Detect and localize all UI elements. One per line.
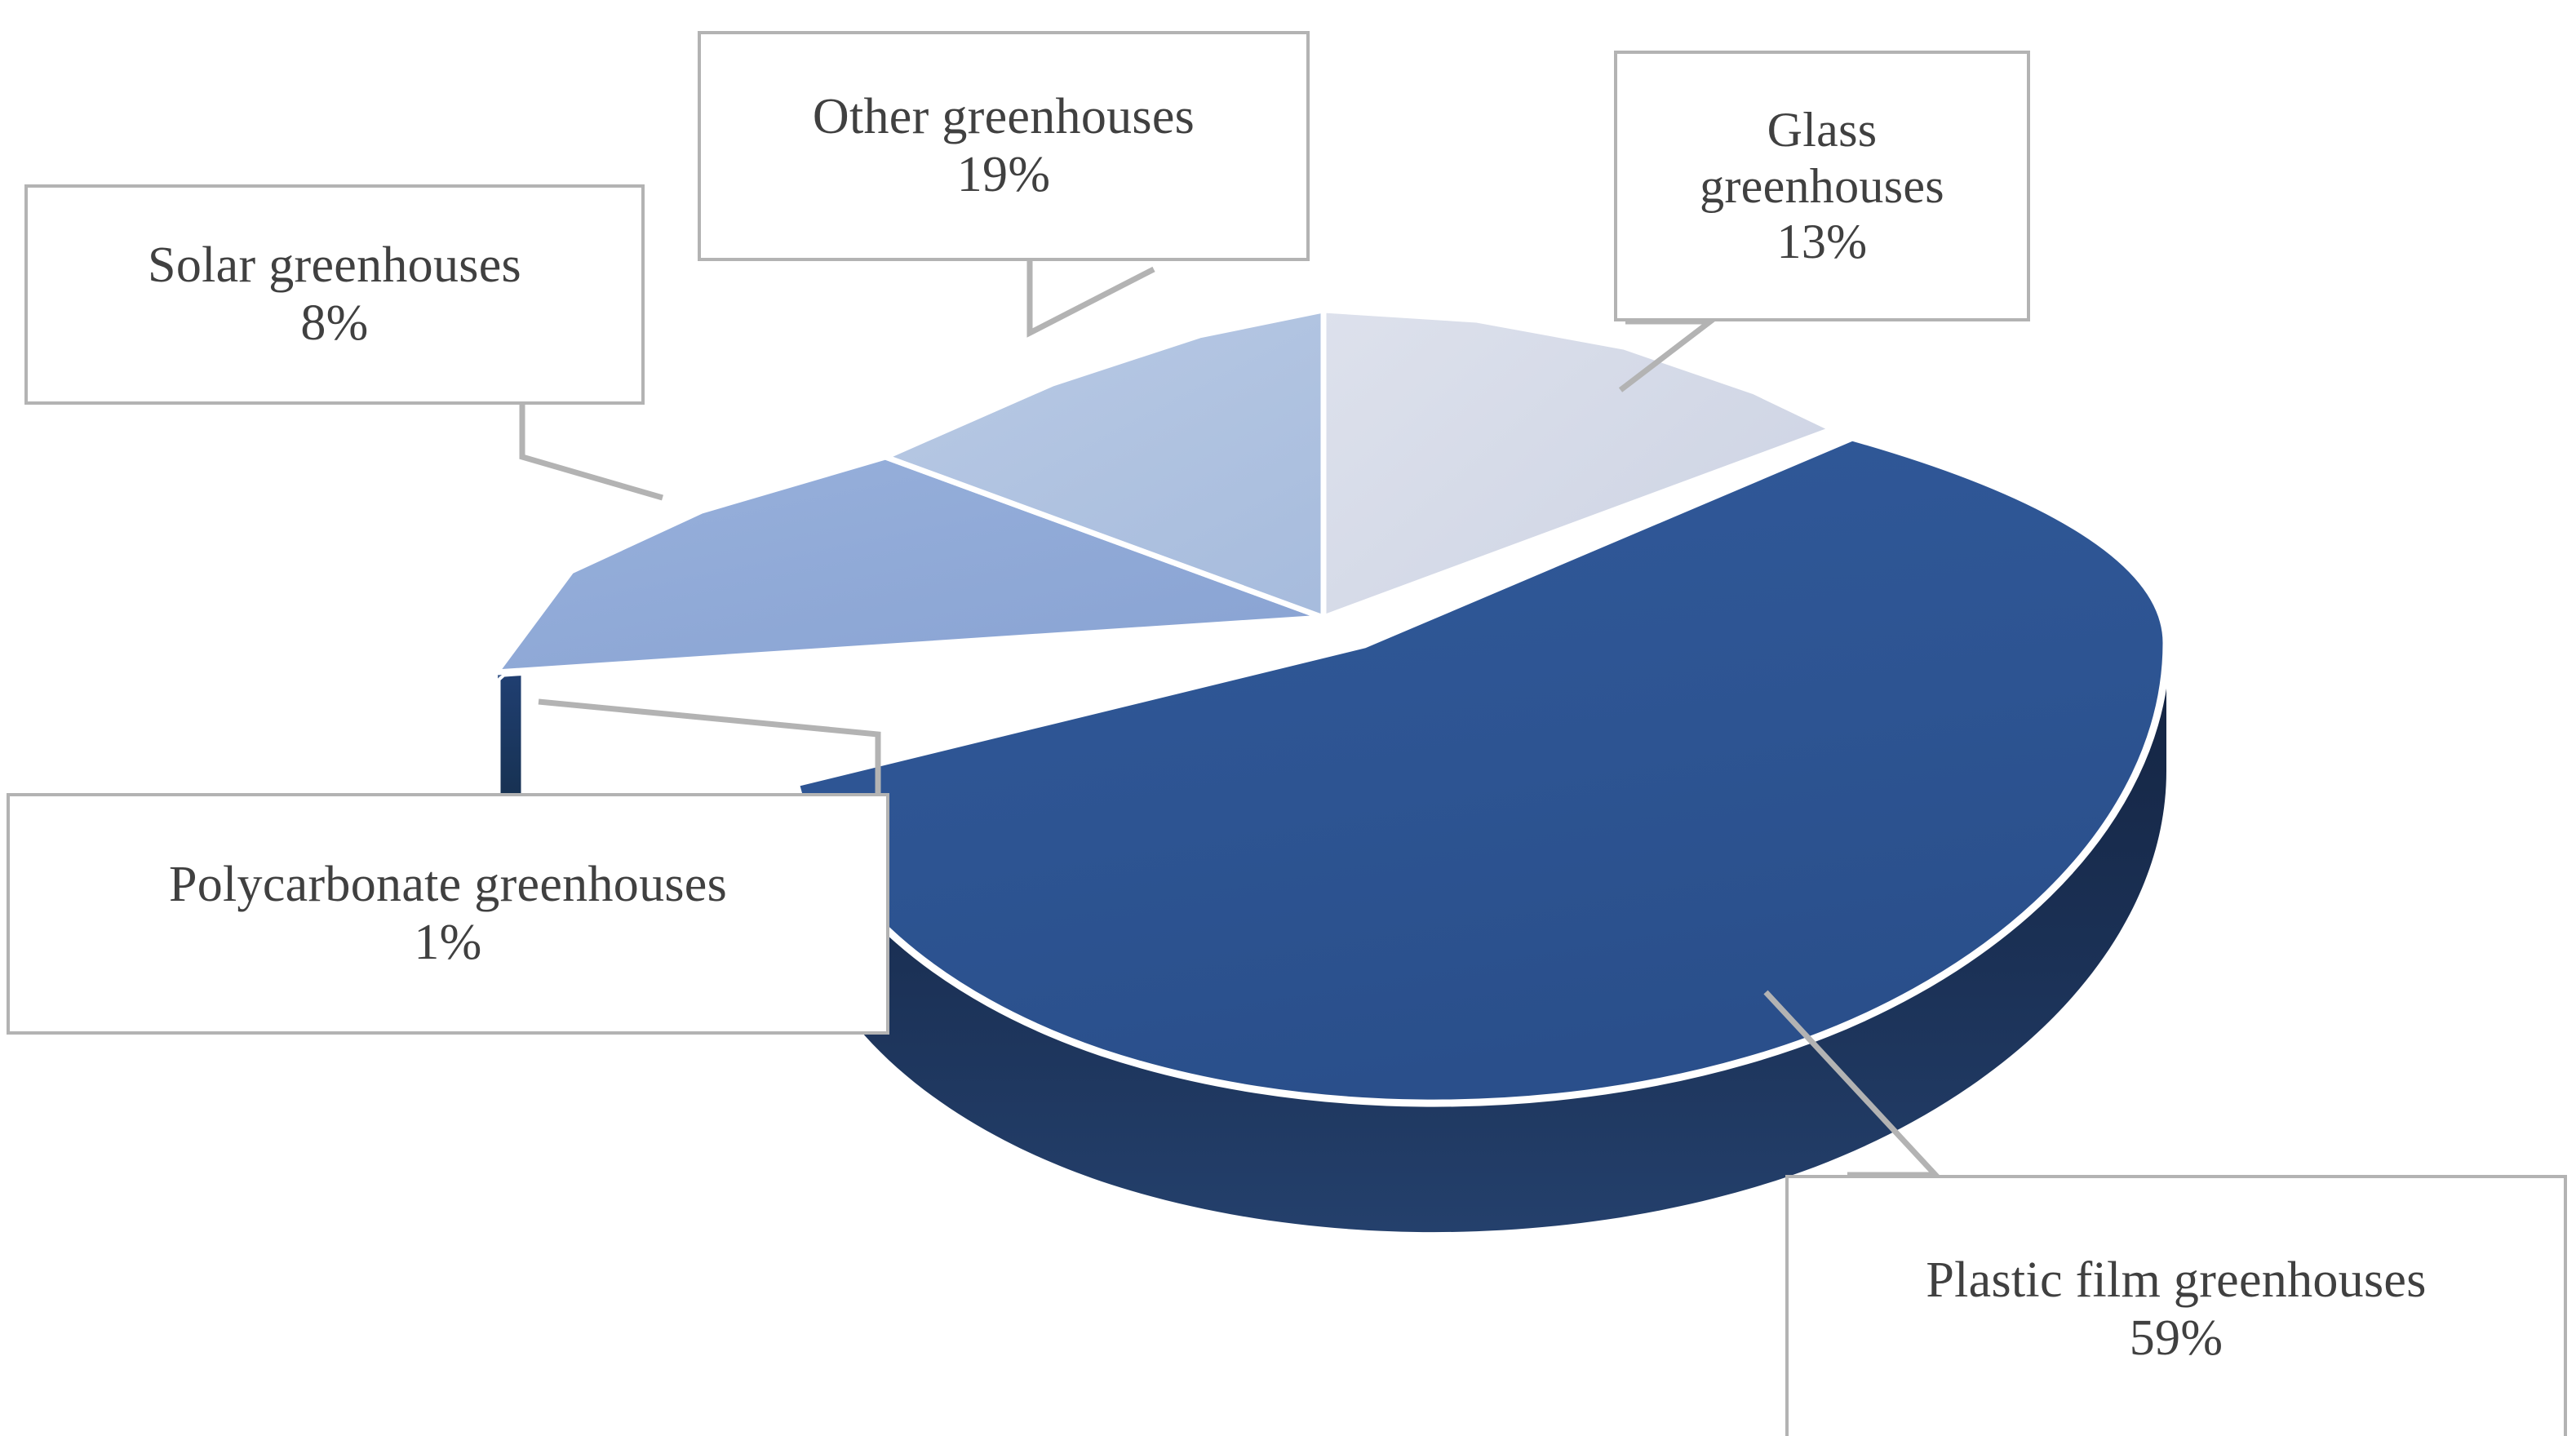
callout-plastic-film-percent: 59% <box>2130 1310 2224 1367</box>
callout-solar-greenhouses[interactable]: Solar greenhouses 8% <box>24 184 645 405</box>
callout-polycarbonate-greenhouses[interactable]: Polycarbonate greenhouses 1% <box>7 793 889 1035</box>
callout-polycarbonate-label: Polycarbonate greenhouses <box>169 856 727 914</box>
callout-glass-percent: 13% <box>1777 214 1868 269</box>
callout-glass-label: Glass greenhouses <box>1700 102 1944 214</box>
callout-other-label: Other greenhouses <box>813 88 1195 146</box>
callout-solar-percent: 8% <box>300 295 368 352</box>
callout-other-greenhouses[interactable]: Other greenhouses 19% <box>698 31 1310 261</box>
callout-glass-greenhouses[interactable]: Glass greenhouses 13% <box>1614 51 2030 321</box>
callout-other-percent: 19% <box>957 146 1051 204</box>
callout-plastic-film-greenhouses[interactable]: Plastic film greenhouses 59% <box>1785 1175 2567 1436</box>
callout-plastic-film-label: Plastic film greenhouses <box>1926 1252 2426 1310</box>
callout-solar-label: Solar greenhouses <box>148 237 521 295</box>
chart-canvas: Solar greenhouses 8% Other greenhouses 1… <box>0 0 2576 1436</box>
slice-polycarbonate-side <box>499 671 523 808</box>
connector-other <box>1030 261 1154 333</box>
connector-solar <box>522 405 663 498</box>
callout-polycarbonate-percent: 1% <box>414 914 481 972</box>
